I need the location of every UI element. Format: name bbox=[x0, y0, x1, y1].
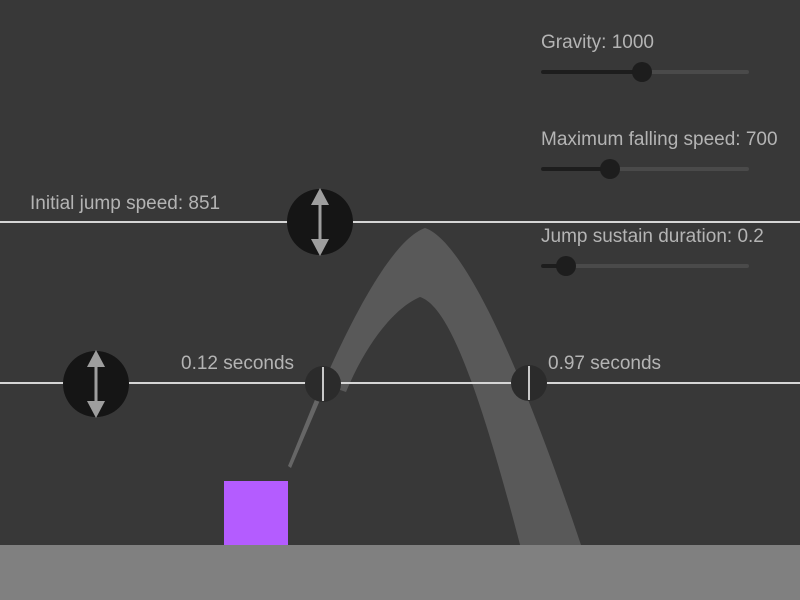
jump-sustain-duration-slider[interactable] bbox=[541, 256, 749, 276]
maximum-falling-speed-slider-label: Maximum falling speed: 700 bbox=[541, 129, 756, 151]
vertical-double-arrow-icon bbox=[63, 351, 129, 417]
maximum-falling-speed-slider-knob[interactable] bbox=[600, 159, 620, 179]
player-square[interactable] bbox=[224, 481, 288, 545]
initial-jump-speed-label: Initial jump speed: 851 bbox=[30, 193, 220, 215]
maximum-falling-speed-slider-group: Maximum falling speed: 700 bbox=[541, 129, 756, 179]
vertical-double-arrow-icon bbox=[287, 189, 353, 255]
gravity-slider-fill bbox=[541, 70, 642, 74]
maximum-falling-speed-slider[interactable] bbox=[541, 159, 749, 179]
ground-plane bbox=[0, 545, 800, 600]
gravity-slider-group: Gravity: 1000 bbox=[541, 32, 756, 82]
gravity-slider-knob[interactable] bbox=[632, 62, 652, 82]
jump-height-handle[interactable] bbox=[63, 351, 129, 417]
time-marker-left-handle[interactable] bbox=[305, 366, 341, 402]
time-marker-right-handle[interactable] bbox=[511, 365, 547, 401]
jump-sustain-duration-slider-label: Jump sustain duration: 0.2 bbox=[541, 226, 756, 248]
time-left-label: 0.12 seconds bbox=[181, 353, 294, 375]
jump-sustain-duration-slider-group: Jump sustain duration: 0.2 bbox=[541, 226, 756, 276]
gravity-slider-label: Gravity: 1000 bbox=[541, 32, 756, 54]
time-right-label: 0.97 seconds bbox=[548, 353, 661, 375]
jump-tuner-canvas: Initial jump speed: 851 0.12 seconds 0.9… bbox=[0, 0, 800, 600]
vertical-tick-icon bbox=[511, 365, 547, 401]
apex-guide-line bbox=[0, 221, 800, 223]
gravity-slider[interactable] bbox=[541, 62, 749, 82]
trajectory-graphics bbox=[0, 0, 800, 600]
jump-sustain-duration-slider-knob[interactable] bbox=[556, 256, 576, 276]
jump-speed-handle[interactable] bbox=[287, 189, 353, 255]
vertical-tick-icon bbox=[305, 366, 341, 402]
